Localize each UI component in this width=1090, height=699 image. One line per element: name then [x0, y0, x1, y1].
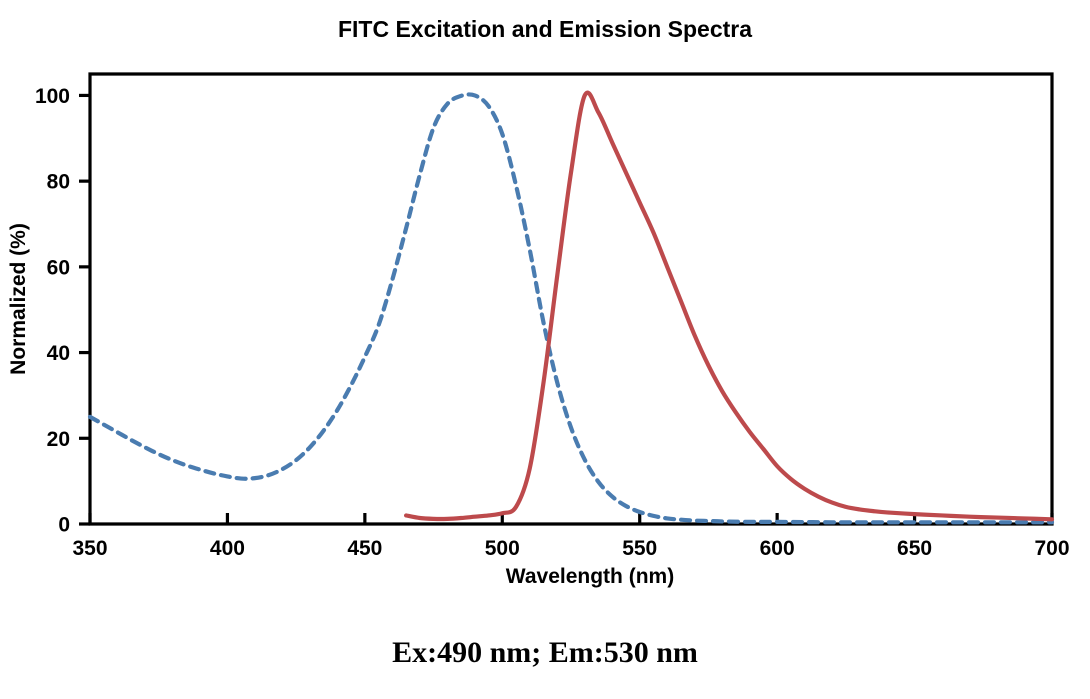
data-series-group: [90, 93, 1052, 523]
series-emission-line: [406, 93, 1052, 520]
x-tick-label: 350: [72, 537, 107, 560]
y-tick-label: 20: [47, 428, 70, 451]
x-tick-label: 400: [210, 537, 245, 560]
x-tick-label: 500: [485, 537, 520, 560]
x-tick-label: 700: [1034, 537, 1069, 560]
x-tick-label: 550: [622, 537, 657, 560]
y-tick-label: 100: [35, 85, 70, 108]
y-axis-ticks: [79, 95, 90, 524]
figure-caption: Ex:490 nm; Em:530 nm: [0, 636, 1090, 670]
plot-frame: [90, 74, 1052, 524]
x-tick-label: 600: [760, 537, 795, 560]
y-axis-tick-labels: 020406080100: [35, 85, 70, 537]
x-tick-label: 450: [347, 537, 382, 560]
x-axis-title: Wavelength (nm): [506, 565, 674, 588]
y-tick-label: 80: [47, 171, 70, 194]
figure-container: FITC Excitation and Emission Spectra 350…: [0, 0, 1090, 699]
y-tick-label: 60: [47, 256, 70, 279]
y-axis-title: Normalized (%): [7, 223, 30, 375]
x-axis-tick-labels: 350400450500550600650700: [72, 537, 1069, 560]
x-tick-label: 650: [897, 537, 932, 560]
y-tick-label: 40: [47, 342, 70, 365]
y-tick-label: 0: [58, 514, 70, 537]
spectra-chart: 350400450500550600650700 020406080100 Wa…: [0, 0, 1090, 699]
chart-frame: [90, 74, 1052, 524]
